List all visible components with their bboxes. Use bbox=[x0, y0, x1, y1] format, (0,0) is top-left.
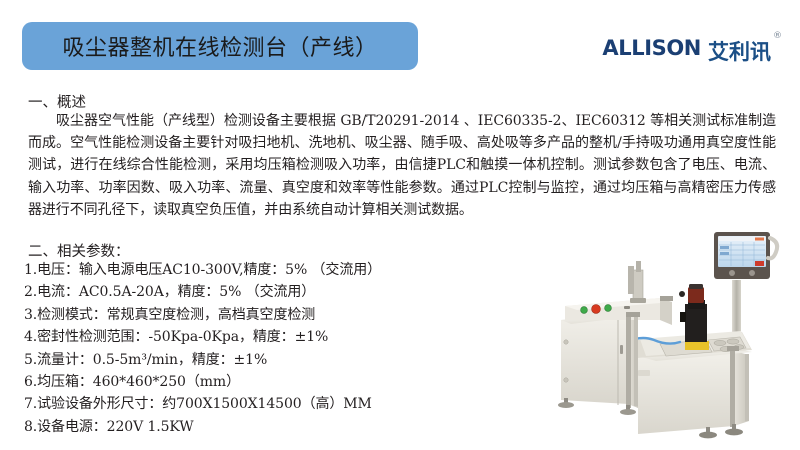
list-item: 8.设备电源：220V 1.5KW bbox=[24, 416, 494, 438]
test-head-bracket bbox=[680, 312, 686, 322]
slide-page: 吸尘器整机在线检测台（产线） ALLISON 艾利讯 ® 一、概述 吸尘器空气性… bbox=[0, 0, 800, 450]
page-title-box: 吸尘器整机在线检测台（产线） bbox=[22, 22, 418, 70]
hmi-touch-panel[interactable] bbox=[714, 232, 777, 279]
emergency-stop-button-red[interactable] bbox=[592, 305, 601, 314]
frame-upright-center-2 bbox=[634, 314, 638, 406]
test-head-red-cylinder bbox=[688, 287, 704, 303]
hmi-screen-value bbox=[720, 252, 729, 255]
equipment-photo bbox=[520, 228, 796, 446]
list-item: 1.电压：输入电源电压AC10-300V,精度：5% （交流用） bbox=[24, 259, 494, 281]
panel-switch[interactable] bbox=[624, 306, 630, 309]
hmi-screen-value bbox=[720, 246, 729, 249]
frame-corner-bracket bbox=[727, 346, 739, 351]
hmi-screen-alarm-chip bbox=[755, 238, 764, 241]
actuator-rod bbox=[636, 261, 641, 272]
equipment-illustration bbox=[520, 228, 796, 446]
test-head-black-body bbox=[685, 304, 707, 342]
company-logo: ALLISON 艾利讯 ® bbox=[602, 36, 782, 66]
cabinet-fastener bbox=[564, 340, 568, 344]
leveling-foot bbox=[725, 429, 743, 436]
frame-corner-bracket bbox=[660, 296, 673, 301]
chamber-side-panel bbox=[660, 298, 672, 325]
test-head-cap bbox=[689, 284, 703, 289]
list-item: 7.试验设备外形尺寸：约700X1500X14500（高）MM bbox=[24, 393, 494, 415]
overview-heading: 一、概述 bbox=[28, 91, 86, 112]
parameters-list: 1.电压：输入电源电压AC10-300V,精度：5% （交流用） 2.电流：AC… bbox=[24, 259, 494, 438]
orifice-hole bbox=[727, 339, 739, 344]
frame-upright-right-back bbox=[745, 354, 749, 421]
logo-text-english: ALLISON bbox=[602, 36, 701, 60]
start-button-green[interactable] bbox=[581, 307, 588, 314]
test-head-sensor-icon bbox=[679, 291, 685, 297]
logo-text-chinese: 艾利讯 bbox=[708, 36, 771, 66]
list-item: 3.检测模式：常规真空度检测，高档真空度检测 bbox=[24, 304, 494, 326]
leveling-foot bbox=[699, 432, 717, 439]
right-cabinet-front-panel bbox=[638, 351, 734, 434]
leveling-foot bbox=[558, 402, 574, 408]
hmi-screen-stop-button[interactable] bbox=[755, 261, 764, 266]
cabinet-fastener bbox=[564, 378, 568, 382]
equipment-nameplate bbox=[638, 370, 650, 376]
actuator-mount bbox=[630, 298, 646, 303]
frame-upright-right bbox=[730, 350, 735, 427]
cabinet-door-handle[interactable] bbox=[620, 345, 623, 354]
orifice-hole bbox=[714, 340, 726, 345]
list-item: 6.均压箱：460*460*250（mm） bbox=[24, 371, 494, 393]
test-head-yellow-base bbox=[685, 341, 709, 350]
frame-upright-center bbox=[626, 316, 631, 408]
list-item: 5.流量计：0.5-5m³/min，精度：±1% bbox=[24, 349, 494, 371]
reset-button-green[interactable] bbox=[605, 305, 612, 312]
frame-corner-bracket bbox=[626, 312, 640, 317]
hmi-bezel-button-right[interactable] bbox=[749, 270, 755, 276]
actuator-guide-rail bbox=[628, 266, 634, 294]
list-item: 2.电流：AC0.5A-20A，精度：5% （交流用） bbox=[24, 281, 494, 303]
overview-body-text: 吸尘器空气性能（产线型）检测设备主要根据 GB/T20291-2014 、IEC… bbox=[28, 110, 776, 221]
parameters-heading: 二、相关参数： bbox=[28, 240, 130, 261]
actuator-cylinder bbox=[633, 270, 643, 302]
leveling-foot bbox=[620, 409, 636, 415]
page-title: 吸尘器整机在线检测台（产线） bbox=[62, 30, 377, 62]
registered-trademark-icon: ® bbox=[773, 31, 782, 41]
list-item: 4.密封性检测范围：-50Kpa-0Kpa，精度：±1% bbox=[24, 326, 494, 348]
hmi-bezel-button-left[interactable] bbox=[729, 270, 735, 276]
vertical-actuator bbox=[628, 261, 646, 303]
